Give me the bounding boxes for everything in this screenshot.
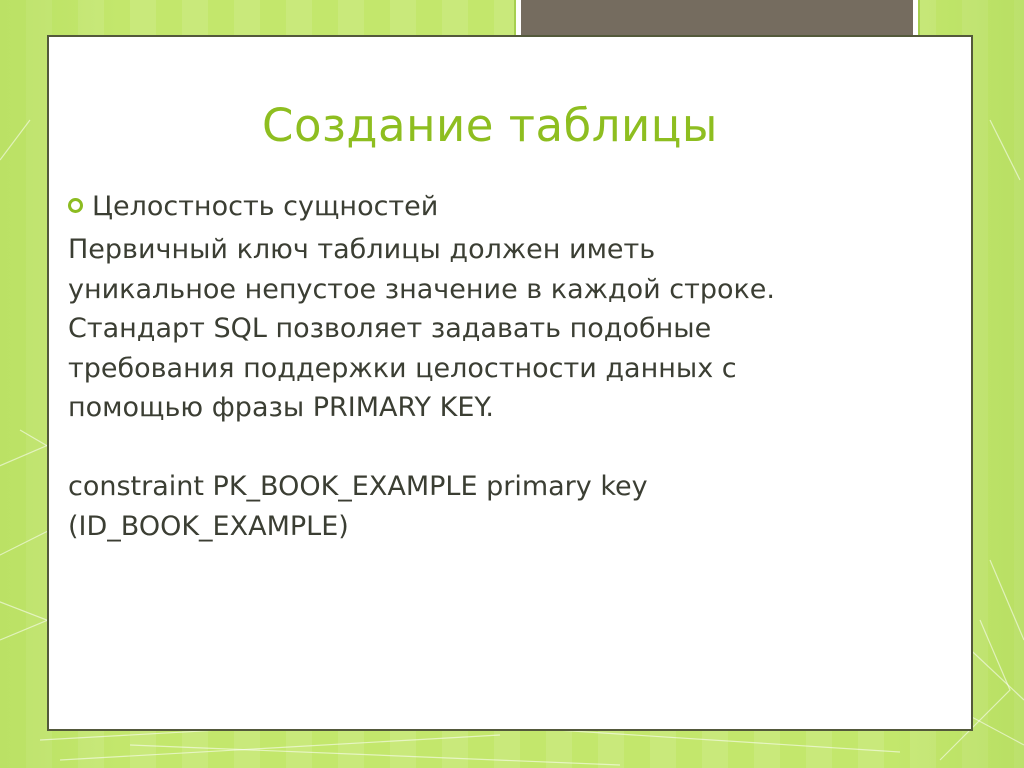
paragraph-line: Стандарт SQL позволяет задавать подобные: [68, 309, 928, 349]
sql-code-block: constraint PK_BOOK_EXAMPLE primary key (…: [68, 467, 928, 546]
bullet-item-label: Целостность сущностей: [92, 190, 438, 224]
slide-title: Создание таблицы: [90, 98, 890, 154]
paragraph-line: уникальное непустое значение в каждой ст…: [68, 270, 928, 310]
paragraph-spacer: [68, 428, 928, 468]
paragraph-line: помощью фразы PRIMARY KEY.: [68, 388, 928, 428]
bullet-list-item: Целостность сущностей: [68, 190, 928, 224]
paragraph-line: требования поддержки целостности данных …: [68, 349, 928, 389]
slide-canvas: Создание таблицы Целостность сущностей П…: [0, 0, 1024, 768]
code-line: constraint PK_BOOK_EXAMPLE primary key: [68, 467, 928, 507]
ring-bullet-icon: [68, 198, 83, 213]
paragraph-line: Первичный ключ таблицы должен иметь: [68, 230, 928, 270]
slide-body: Целостность сущностей Первичный ключ таб…: [68, 190, 928, 546]
code-line: (ID_BOOK_EXAMPLE): [68, 507, 928, 547]
body-paragraph: Первичный ключ таблицы должен иметь уник…: [68, 230, 928, 428]
